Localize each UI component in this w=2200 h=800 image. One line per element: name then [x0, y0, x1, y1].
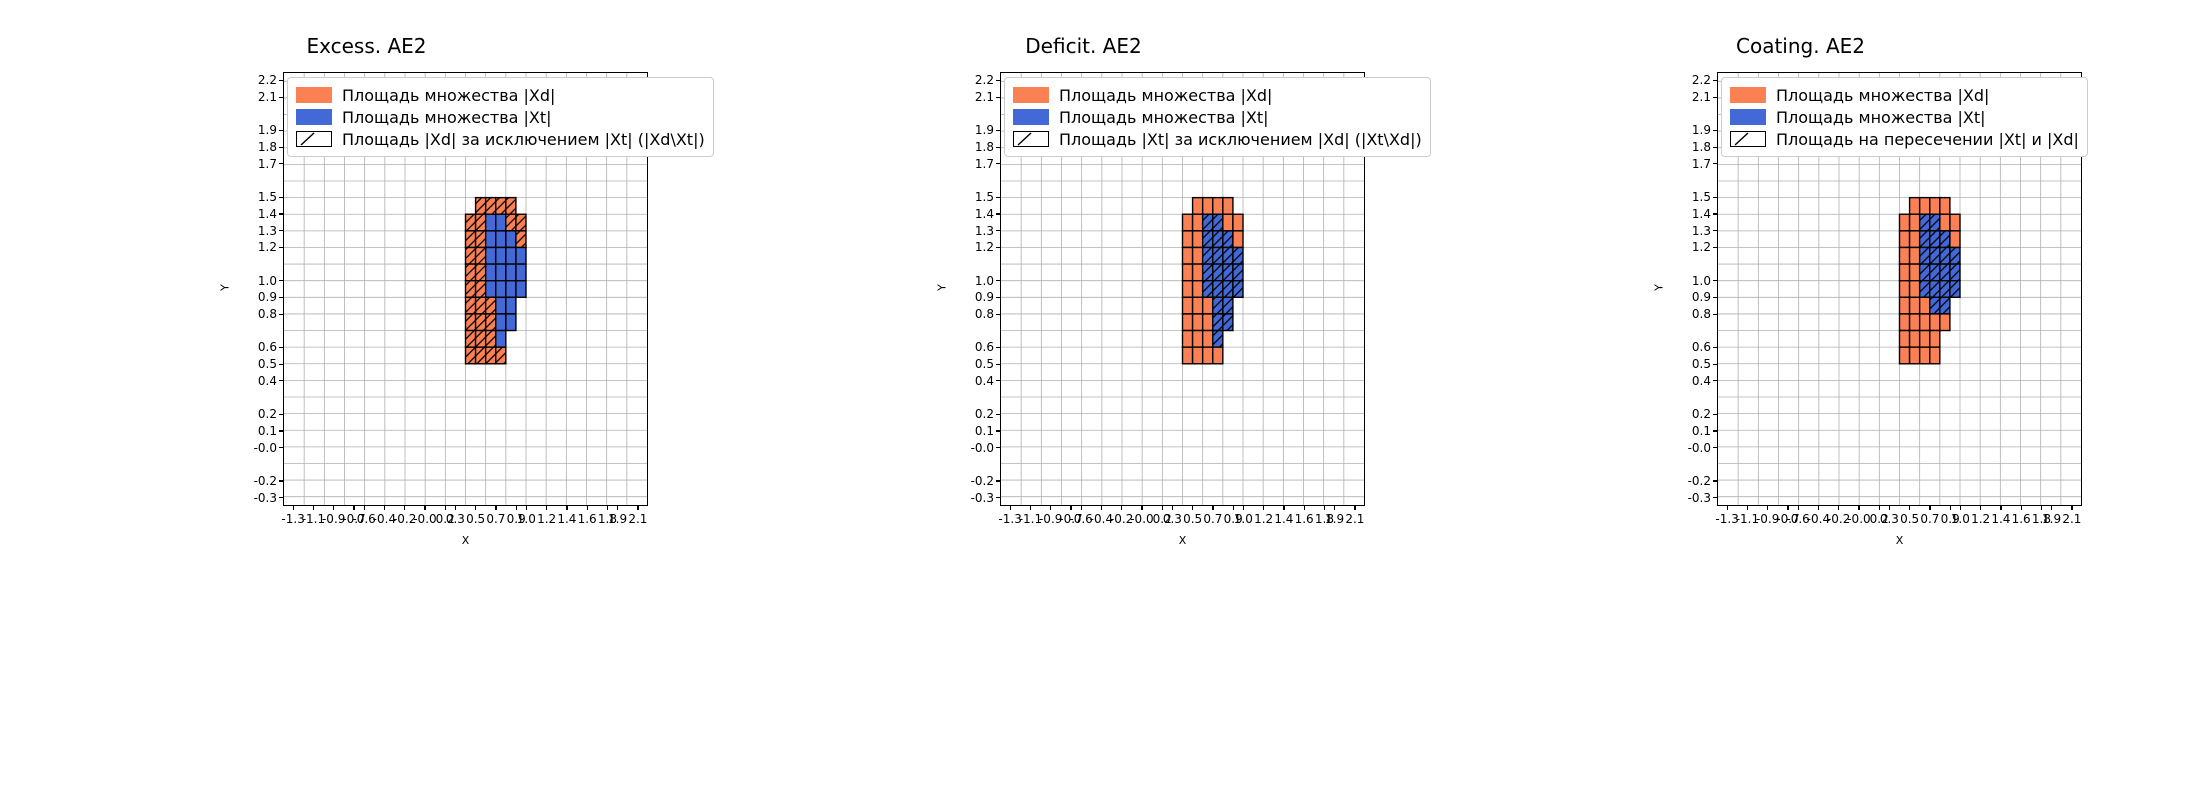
set-cell — [1183, 314, 1193, 331]
x-tick-label: 1.0 — [1234, 512, 1253, 526]
x-tick-mark — [455, 506, 456, 510]
set-cell-hatch — [1223, 264, 1233, 281]
set-cell-hatch — [476, 264, 486, 281]
y-tick-label: 0.4 — [239, 374, 277, 388]
y-tick-mark — [279, 130, 283, 131]
set-cell — [1900, 281, 1910, 298]
set-cell — [1950, 231, 1960, 248]
x-tick-mark — [1101, 506, 1102, 510]
x-tick-mark — [617, 506, 618, 510]
y-tick-mark — [996, 430, 1000, 431]
x-tick-label: 0.5 — [466, 512, 485, 526]
y-tick-label: 0.2 — [956, 407, 994, 421]
set-cell — [506, 297, 516, 314]
y-tick-label: 1.7 — [239, 157, 277, 171]
set-cell — [1910, 214, 1920, 231]
set-cell — [1193, 247, 1203, 264]
x-tick-mark — [445, 506, 446, 510]
set-cell-hatch — [506, 214, 516, 231]
x-tick-mark — [1980, 506, 1981, 510]
x-tick-mark — [1354, 506, 1355, 510]
x-tick-label: 1.6 — [2012, 512, 2031, 526]
x-tick-mark — [1030, 506, 1031, 510]
legend-item[interactable]: Площадь на пересечении |Xt| и |Xd| — [1730, 128, 2079, 150]
set-cell — [486, 247, 496, 264]
x-tick-label: 1.4 — [1991, 512, 2010, 526]
set-cell — [1193, 314, 1203, 331]
x-tick-mark — [1263, 506, 1264, 510]
y-tick-mark — [1713, 497, 1717, 498]
set-cell-hatch — [1940, 231, 1950, 248]
y-tick-label: -0.2 — [956, 474, 994, 488]
x-tick-mark — [1747, 506, 1748, 510]
y-tick-mark — [279, 414, 283, 415]
legend-label: Площадь множества |Xd| — [342, 86, 555, 105]
x-tick-label: 0.5 — [1900, 512, 1919, 526]
set-cell — [496, 231, 506, 248]
y-tick-label: 0.1 — [956, 424, 994, 438]
y-tick-label: 1.2 — [956, 240, 994, 254]
legend-item[interactable]: Площадь |Xd| за исключением |Xt| (|Xd\Xt… — [296, 128, 705, 150]
legend-label: Площадь |Xt| за исключением |Xd| (|Xt\Xd… — [1059, 130, 1422, 149]
set-cell — [1900, 214, 1910, 231]
y-tick-label: 0.8 — [239, 307, 277, 321]
y-tick-mark — [279, 380, 283, 381]
set-cell-hatch — [1930, 297, 1940, 314]
set-cell-hatch — [1203, 264, 1213, 281]
legend-label: Площадь множества |Xt| — [1776, 108, 1986, 127]
x-axis-label: X — [283, 534, 648, 547]
x-tick-mark — [1889, 506, 1890, 510]
set-cell-hatch — [466, 247, 476, 264]
y-tick-mark — [996, 163, 1000, 164]
set-cell-hatch — [1920, 281, 1930, 298]
y-tick-label: 2.2 — [239, 73, 277, 87]
x-tick-mark — [475, 506, 476, 510]
y-tick-mark — [1713, 163, 1717, 164]
set-cell — [486, 214, 496, 231]
x-tick-mark — [1172, 506, 1173, 510]
y-tick-label: 2.1 — [956, 90, 994, 104]
set-cell — [506, 314, 516, 331]
x-tick-label: 2.1 — [2062, 512, 2081, 526]
set-cell — [486, 281, 496, 298]
set-cell-hatch — [1920, 247, 1930, 264]
y-tick-mark — [279, 80, 283, 81]
x-axis-label: X — [1717, 534, 2082, 547]
set-cell — [1920, 314, 1930, 331]
x-tick-label: 0.7 — [1203, 512, 1222, 526]
y-tick-label: 2.1 — [1673, 90, 1711, 104]
set-cell-hatch — [1930, 281, 1940, 298]
y-tick-label: -0.0 — [239, 441, 277, 455]
x-tick-mark — [516, 506, 517, 510]
set-cell-hatch — [1930, 247, 1940, 264]
x-tick-label: -0.0 — [1130, 512, 1153, 526]
x-tick-label: 0.3 — [1163, 512, 1182, 526]
set-cell — [1203, 331, 1213, 348]
legend-item[interactable]: Площадь множества |Xt| — [1013, 106, 1422, 128]
x-tick-label: 1.0 — [1951, 512, 1970, 526]
x-tick-label: 1.2 — [537, 512, 556, 526]
set-cell — [1910, 247, 1920, 264]
set-cell — [1910, 198, 1920, 215]
x-tick-mark — [313, 506, 314, 510]
x-tick-label: 1.2 — [1971, 512, 1990, 526]
y-tick-label: 1.4 — [239, 207, 277, 221]
x-tick-mark — [566, 506, 567, 510]
set-cell-hatch — [1233, 264, 1243, 281]
set-cell-hatch — [476, 314, 486, 331]
set-cell — [1183, 281, 1193, 298]
y-tick-mark — [279, 314, 283, 315]
set-cell-hatch — [466, 231, 476, 248]
set-cell — [496, 247, 506, 264]
set-cell-hatch — [466, 264, 476, 281]
panel-title: Deficit. AE2 — [717, 34, 1450, 58]
set-cell — [486, 264, 496, 281]
x-tick-mark — [1010, 506, 1011, 510]
set-cell — [496, 331, 506, 348]
x-tick-mark — [2051, 506, 2052, 510]
y-tick-mark — [1713, 414, 1717, 415]
y-tick-label: 1.2 — [239, 240, 277, 254]
y-tick-mark — [1713, 80, 1717, 81]
set-cell-hatch — [1213, 231, 1223, 248]
set-cell — [1910, 231, 1920, 248]
set-cell — [1183, 247, 1193, 264]
x-tick-mark — [637, 506, 638, 510]
y-tick-label: 2.2 — [1673, 73, 1711, 87]
y-tick-mark — [1713, 347, 1717, 348]
y-tick-label: 0.8 — [956, 307, 994, 321]
y-tick-label: -0.2 — [1673, 474, 1711, 488]
x-tick-label: 2.1 — [1345, 512, 1364, 526]
y-tick-mark — [996, 230, 1000, 231]
x-tick-label: 0.3 — [1880, 512, 1899, 526]
y-tick-label: 0.6 — [239, 340, 277, 354]
y-tick-label: 1.3 — [1673, 224, 1711, 238]
x-tick-mark — [293, 506, 294, 510]
set-cell — [1183, 231, 1193, 248]
set-cell-hatch — [1223, 247, 1233, 264]
orange-swatch-icon — [296, 87, 332, 103]
set-cell-hatch — [476, 247, 486, 264]
legend-label: Площадь множества |Xt| — [342, 108, 552, 127]
set-cell — [1203, 314, 1213, 331]
y-tick-label: -0.3 — [956, 491, 994, 505]
set-cell — [1910, 347, 1920, 364]
y-tick-label: 0.5 — [956, 357, 994, 371]
y-tick-mark — [996, 213, 1000, 214]
set-cell-hatch — [486, 347, 496, 364]
panel-title: Excess. AE2 — [0, 34, 733, 58]
set-cell-hatch — [1940, 264, 1950, 281]
legend: Площадь множества |Xd|Площадь множества … — [1721, 77, 2088, 157]
x-tick-mark — [1798, 506, 1799, 510]
y-tick-mark — [279, 447, 283, 448]
set-cell-hatch — [1203, 281, 1213, 298]
x-tick-mark — [526, 506, 527, 510]
y-tick-mark — [996, 197, 1000, 198]
set-cell — [1900, 231, 1910, 248]
legend-item[interactable]: Площадь множества |Xt| — [296, 106, 705, 128]
y-tick-label: 1.3 — [239, 224, 277, 238]
legend-item[interactable]: Площадь множества |Xd| — [1730, 84, 2079, 106]
y-tick-mark — [1713, 247, 1717, 248]
legend: Площадь множества |Xd|Площадь множества … — [1004, 77, 1431, 157]
y-tick-mark — [279, 163, 283, 164]
x-tick-mark — [1192, 506, 1193, 510]
y-tick-label: 1.3 — [956, 224, 994, 238]
set-cell-hatch — [476, 231, 486, 248]
y-tick-label: 1.5 — [956, 190, 994, 204]
y-tick-label: -0.3 — [239, 491, 277, 505]
x-tick-mark — [1334, 506, 1335, 510]
set-cell — [1193, 347, 1203, 364]
set-cell — [1203, 297, 1213, 314]
x-tick-label: 0.7 — [1920, 512, 1939, 526]
y-tick-label: 1.8 — [239, 140, 277, 154]
set-cell-hatch — [1233, 281, 1243, 298]
set-cell — [1203, 198, 1213, 215]
y-tick-mark — [279, 497, 283, 498]
x-tick-label: 1.9 — [608, 512, 627, 526]
x-tick-mark — [1727, 506, 1728, 510]
set-cell-hatch — [1203, 214, 1213, 231]
set-cell-hatch — [1223, 314, 1233, 331]
legend-item[interactable]: Площадь множества |Xd| — [1013, 84, 1422, 106]
y-tick-label: 1.4 — [1673, 207, 1711, 221]
y-tick-label: 0.4 — [956, 374, 994, 388]
x-tick-mark — [1767, 506, 1768, 510]
set-cell-hatch — [516, 214, 526, 231]
set-cell — [1900, 314, 1910, 331]
figure-root: Excess. AE22.22.11.91.81.71.51.41.31.21.… — [0, 0, 2200, 800]
set-cell-hatch — [476, 198, 486, 215]
legend-label: Площадь множества |Xt| — [1059, 108, 1269, 127]
legend-label: Площадь |Xd| за исключением |Xt| (|Xd\Xt… — [342, 130, 705, 149]
legend-label: Площадь множества |Xd| — [1059, 86, 1272, 105]
hatch-swatch-icon — [1013, 131, 1049, 147]
y-tick-label: 1.4 — [956, 207, 994, 221]
x-tick-mark — [546, 506, 547, 510]
set-cell-hatch — [506, 198, 516, 215]
set-cell-hatch — [466, 214, 476, 231]
x-tick-mark — [1233, 506, 1234, 510]
y-tick-mark — [996, 497, 1000, 498]
x-tick-mark — [1141, 506, 1142, 510]
y-tick-label: 0.6 — [956, 340, 994, 354]
legend: Площадь множества |Xd|Площадь множества … — [287, 77, 714, 157]
set-cell-hatch — [1940, 281, 1950, 298]
x-tick-mark — [1121, 506, 1122, 510]
set-cell-hatch — [486, 331, 496, 348]
y-tick-mark — [1713, 280, 1717, 281]
set-cell-hatch — [1213, 314, 1223, 331]
x-tick-mark — [364, 506, 365, 510]
y-tick-label: 0.8 — [1673, 307, 1711, 321]
y-tick-mark — [279, 347, 283, 348]
panel-deficit: Deficit. AE22.22.11.91.81.71.51.41.31.21… — [717, 0, 1450, 800]
y-tick-label: 1.5 — [239, 190, 277, 204]
set-cell-hatch — [496, 198, 506, 215]
set-cell-hatch — [1920, 231, 1930, 248]
legend-item[interactable]: Площадь множества |Xd| — [296, 84, 705, 106]
set-cell-hatch — [476, 347, 486, 364]
y-tick-mark — [279, 430, 283, 431]
set-cell — [1930, 331, 1940, 348]
set-cell — [496, 214, 506, 231]
y-tick-label: 1.9 — [239, 123, 277, 137]
set-cell — [1193, 281, 1203, 298]
y-tick-mark — [279, 297, 283, 298]
y-tick-label: 0.2 — [1673, 407, 1711, 421]
hatch-swatch-icon — [296, 131, 332, 147]
y-tick-mark — [996, 297, 1000, 298]
set-cell — [1910, 281, 1920, 298]
x-tick-mark — [1960, 506, 1961, 510]
x-tick-mark — [495, 506, 496, 510]
y-tick-mark — [996, 130, 1000, 131]
y-tick-label: 1.9 — [1673, 123, 1711, 137]
set-cell-hatch — [486, 297, 496, 314]
y-tick-label: 1.0 — [239, 274, 277, 288]
x-tick-mark — [1929, 506, 1930, 510]
y-tick-mark — [1713, 430, 1717, 431]
set-cell-hatch — [476, 297, 486, 314]
set-cell — [1940, 214, 1950, 231]
x-tick-mark — [2000, 506, 2001, 510]
x-tick-label: 1.4 — [557, 512, 576, 526]
set-cell — [1233, 214, 1243, 231]
y-tick-mark — [996, 480, 1000, 481]
x-tick-mark — [2041, 506, 2042, 510]
set-cell — [1193, 331, 1203, 348]
y-tick-label: 0.1 — [239, 424, 277, 438]
set-cell — [1193, 231, 1203, 248]
set-cell-hatch — [1233, 247, 1243, 264]
set-cell-hatch — [1950, 281, 1960, 298]
set-cell — [1183, 347, 1193, 364]
y-tick-mark — [279, 480, 283, 481]
y-tick-label: -0.0 — [1673, 441, 1711, 455]
set-cell-hatch — [1950, 264, 1960, 281]
set-cell — [1940, 198, 1950, 215]
set-cell — [1193, 198, 1203, 215]
y-tick-mark — [996, 314, 1000, 315]
hatch-swatch-icon — [1730, 131, 1766, 147]
set-cell-hatch — [1213, 264, 1223, 281]
x-tick-mark — [587, 506, 588, 510]
legend-item[interactable]: Площадь |Xt| за исключением |Xd| (|Xt\Xd… — [1013, 128, 1422, 150]
set-cell-hatch — [1213, 297, 1223, 314]
set-cell — [506, 247, 516, 264]
set-cell-hatch — [1213, 247, 1223, 264]
y-tick-mark — [1713, 447, 1717, 448]
y-tick-label: 0.5 — [239, 357, 277, 371]
set-cell-hatch — [466, 297, 476, 314]
x-tick-mark — [1879, 506, 1880, 510]
set-cell-hatch — [1213, 214, 1223, 231]
set-cell-hatch — [466, 314, 476, 331]
legend-label: Площадь на пересечении |Xt| и |Xd| — [1776, 130, 2079, 149]
y-tick-mark — [279, 280, 283, 281]
set-cell-hatch — [1203, 247, 1213, 264]
set-cell — [1203, 347, 1213, 364]
set-cell-hatch — [1930, 231, 1940, 248]
y-axis-label: Y — [219, 258, 232, 318]
x-tick-mark — [1212, 506, 1213, 510]
y-tick-mark — [1713, 230, 1717, 231]
y-tick-label: 1.2 — [1673, 240, 1711, 254]
set-cell-hatch — [466, 331, 476, 348]
y-tick-mark — [996, 380, 1000, 381]
set-cell — [1193, 297, 1203, 314]
y-tick-mark — [996, 280, 1000, 281]
x-tick-mark — [2071, 506, 2072, 510]
set-cell — [516, 281, 526, 298]
set-cell — [1213, 347, 1223, 364]
y-tick-mark — [996, 97, 1000, 98]
y-tick-label: 0.9 — [1673, 290, 1711, 304]
y-tick-label: 1.0 — [1673, 274, 1711, 288]
x-tick-mark — [1162, 506, 1163, 510]
y-tick-mark — [1713, 147, 1717, 148]
y-tick-label: 2.2 — [956, 73, 994, 87]
set-cell — [1920, 297, 1930, 314]
x-tick-label: 1.9 — [2042, 512, 2061, 526]
set-cell-hatch — [476, 281, 486, 298]
y-tick-mark — [279, 247, 283, 248]
set-cell-hatch — [486, 314, 496, 331]
set-cell-hatch — [1213, 331, 1223, 348]
set-cell — [1900, 247, 1910, 264]
x-tick-mark — [384, 506, 385, 510]
y-tick-mark — [1713, 380, 1717, 381]
x-tick-mark — [1324, 506, 1325, 510]
y-tick-mark — [279, 213, 283, 214]
set-cell-hatch — [476, 214, 486, 231]
set-cell-hatch — [466, 281, 476, 298]
x-tick-mark — [2021, 506, 2022, 510]
x-tick-mark — [424, 506, 425, 510]
set-cell — [516, 264, 526, 281]
y-tick-label: 1.8 — [1673, 140, 1711, 154]
set-cell — [1233, 231, 1243, 248]
panel-excess: Excess. AE22.22.11.91.81.71.51.41.31.21.… — [0, 0, 733, 800]
y-tick-label: 0.4 — [1673, 374, 1711, 388]
set-cell-hatch — [486, 198, 496, 215]
y-tick-label: 0.2 — [239, 407, 277, 421]
set-cell — [1910, 297, 1920, 314]
y-tick-mark — [279, 364, 283, 365]
set-cell — [506, 281, 516, 298]
legend-label: Площадь множества |Xd| — [1776, 86, 1989, 105]
legend-item[interactable]: Площадь множества |Xt| — [1730, 106, 2079, 128]
x-tick-mark — [607, 506, 608, 510]
x-tick-label: 1.0 — [517, 512, 536, 526]
x-tick-label: 0.5 — [1183, 512, 1202, 526]
set-cell — [1223, 198, 1233, 215]
y-tick-mark — [1713, 130, 1717, 131]
y-tick-label: 1.7 — [956, 157, 994, 171]
y-axis-label: Y — [1653, 258, 1666, 318]
x-tick-mark — [1283, 506, 1284, 510]
set-cell — [506, 264, 516, 281]
x-tick-label: 1.6 — [1295, 512, 1314, 526]
y-tick-label: -0.3 — [1673, 491, 1711, 505]
